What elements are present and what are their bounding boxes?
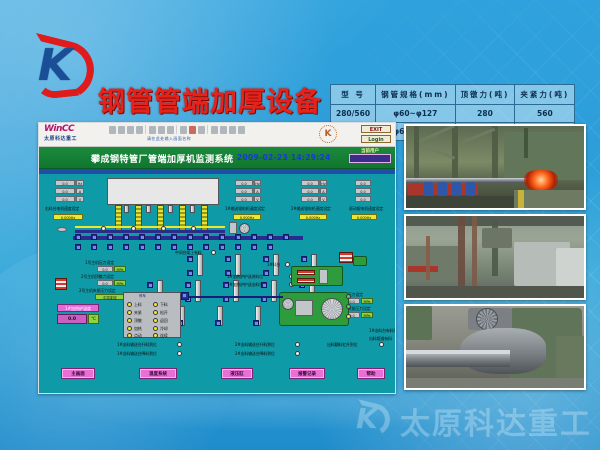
roller-drive bbox=[91, 244, 97, 250]
value-display: 0.0 bbox=[355, 180, 371, 186]
exit-button[interactable]: EXIT bbox=[361, 125, 391, 133]
photo-detail bbox=[406, 350, 510, 354]
operator-panel bbox=[123, 292, 181, 338]
photo-detail bbox=[514, 190, 584, 210]
spec-cell: 560 bbox=[515, 105, 575, 123]
value-unit: Hz bbox=[320, 180, 327, 186]
photo-detail bbox=[482, 228, 512, 248]
panel-lamp-label: 连续 bbox=[160, 333, 168, 339]
press-ram bbox=[124, 205, 129, 213]
spec-cell: 280 bbox=[455, 105, 515, 123]
photo-detail bbox=[524, 128, 528, 158]
status-lamp bbox=[177, 351, 182, 356]
panel-lamp-label: 下料 bbox=[160, 302, 168, 308]
roller-drive bbox=[123, 244, 129, 250]
hmi-system-title: 攀成钢特管厂管端加厚机监测系统 bbox=[91, 152, 234, 165]
spec-table-header-row: 型 号 钢管规格(mm) 顶镦力(吨) 夹紧力(吨) bbox=[331, 85, 575, 105]
clock-icon: K bbox=[319, 125, 337, 143]
value-display: 0.0 bbox=[55, 180, 75, 186]
photo-detail bbox=[524, 170, 558, 190]
spec-header-size: 钢管规格(mm) bbox=[376, 85, 456, 105]
panel-lamp bbox=[153, 333, 158, 338]
photo-detail bbox=[414, 126, 419, 184]
toolbar-layer-icon[interactable] bbox=[229, 126, 236, 134]
status-lamp bbox=[379, 342, 384, 347]
value-unit: A bbox=[254, 188, 261, 194]
toolbar-divider bbox=[145, 125, 147, 134]
photo-detail bbox=[406, 246, 458, 280]
status-label: 1#出料台有料位 bbox=[369, 328, 396, 334]
heating-furnace bbox=[291, 266, 343, 286]
roller-drive bbox=[219, 244, 225, 250]
furnace-door bbox=[319, 269, 328, 284]
heater-temp-value: 0.0 bbox=[57, 314, 87, 324]
status-lamp bbox=[177, 342, 182, 347]
panel-lamp bbox=[127, 333, 132, 338]
photo-detail bbox=[452, 126, 458, 182]
roller-drive bbox=[155, 244, 161, 250]
panel-lamp-label: 冷却 bbox=[160, 326, 168, 332]
setpoint-unit: MPa bbox=[361, 298, 373, 304]
heater-temp-unit: ℃ bbox=[88, 314, 99, 324]
table-row: 280/560 φ60~φ127 280 560 bbox=[331, 105, 575, 123]
photo-detail bbox=[556, 336, 586, 378]
hmi-mimic-canvas: 0.0 Hz 0.0 A 0.0 V 右料台电机速度设定 0.000Hz bbox=[39, 174, 395, 394]
value-display: 0.0 bbox=[301, 196, 319, 202]
roller-drive bbox=[75, 244, 81, 250]
status-label: 中间台架上有料 bbox=[175, 250, 202, 256]
value-unit: A bbox=[76, 188, 84, 194]
status-lamp bbox=[295, 342, 300, 347]
photo-detail bbox=[406, 286, 584, 300]
roller-valve bbox=[203, 234, 209, 240]
wincc-logo: WinCC bbox=[44, 124, 74, 134]
drive-motor-icon bbox=[239, 223, 250, 234]
value-unit: Hz bbox=[76, 180, 84, 186]
current-user-box: 当前用户 bbox=[349, 148, 391, 163]
button-help[interactable]: 帮助 bbox=[357, 368, 385, 379]
conveyor-lamp bbox=[131, 226, 136, 231]
output-display: 0.000Hz bbox=[299, 214, 327, 220]
toolbar-caption: 请在此处输入画面名称 bbox=[147, 136, 191, 142]
roller-valve bbox=[123, 234, 129, 240]
group-label: 右料台电机速度设定 bbox=[45, 206, 79, 212]
toolbar-cut-icon[interactable] bbox=[149, 126, 156, 134]
photo-detail bbox=[466, 182, 475, 196]
status-label: 出料翻料杠升到位 bbox=[327, 342, 357, 348]
hydraulic-cylinder bbox=[235, 254, 241, 276]
photo-detail bbox=[556, 248, 586, 286]
photo-detail bbox=[438, 182, 447, 196]
group-label: 2#输送辊电机速度设定 bbox=[291, 206, 331, 212]
press-column bbox=[201, 205, 208, 233]
roller-drive bbox=[107, 244, 113, 250]
panel-lamp bbox=[127, 318, 132, 323]
hmi-title-bar: 攀成钢特管厂管端加厚机监测系统 2009-02-23 14:29:24 当前用户 bbox=[39, 147, 395, 169]
status-label: 2#出料输送台升料到位 bbox=[235, 342, 275, 348]
panel-lamp bbox=[153, 326, 158, 331]
press-column bbox=[135, 205, 142, 233]
output-display: 0.000Hz bbox=[233, 214, 261, 220]
hmi-window-chrome: WinCC 太原科达重工 请在此处输入画面名称 K EXIT Login bbox=[39, 123, 395, 147]
manifold-stack bbox=[55, 278, 67, 290]
machine-lamp bbox=[346, 294, 351, 299]
conveyor-rail bbox=[75, 230, 225, 233]
setpoint-unit: MPa bbox=[114, 280, 126, 286]
cylinder-valve bbox=[187, 256, 193, 262]
value-display: 0.0 bbox=[301, 180, 319, 186]
conveyor-belt bbox=[75, 226, 225, 228]
cylinder-valve bbox=[253, 320, 259, 326]
toolbar-zoom-icon[interactable] bbox=[198, 126, 205, 134]
machine-lamp bbox=[346, 304, 351, 309]
photo-detail bbox=[424, 182, 433, 196]
toolbar-grid-icon[interactable] bbox=[211, 126, 218, 134]
panel-lamp-label: 加热 bbox=[134, 326, 142, 332]
hydraulic-cylinder bbox=[271, 280, 277, 302]
photo-pipe-upset-closeup bbox=[404, 304, 586, 390]
roller-valve bbox=[91, 234, 97, 240]
toolbar-divider bbox=[207, 125, 209, 134]
roller-valve bbox=[107, 234, 113, 240]
setpoint-value: 中控制定 bbox=[95, 294, 125, 300]
hmi-toolbar[interactable] bbox=[109, 125, 245, 134]
photo-detail bbox=[426, 236, 430, 280]
roller-drive bbox=[139, 244, 145, 250]
photo-workshop bbox=[404, 214, 586, 300]
press-ram bbox=[168, 205, 173, 213]
cylinder-valve bbox=[301, 256, 307, 262]
status-lamp bbox=[285, 262, 290, 267]
photo-detail bbox=[406, 378, 584, 390]
panel-lamp bbox=[153, 318, 158, 323]
photo-detail bbox=[406, 306, 432, 340]
roller-drive bbox=[267, 244, 273, 250]
company-logo: K bbox=[28, 38, 100, 100]
cylinder-valve bbox=[187, 270, 193, 276]
roller-valve bbox=[155, 234, 161, 240]
press-column bbox=[115, 205, 122, 233]
value-unit: Hz bbox=[254, 180, 261, 186]
button-alarm-log[interactable]: 报警记录 bbox=[289, 368, 325, 379]
aux-unit bbox=[353, 256, 367, 266]
value-display: 0.0 bbox=[235, 180, 253, 186]
roller-valve bbox=[75, 234, 81, 240]
button-main-screen[interactable]: 主画面 bbox=[61, 368, 95, 379]
press-ram bbox=[190, 205, 195, 213]
panel-lamp bbox=[127, 326, 132, 331]
status-label: 2#出料输送台降料到位 bbox=[235, 351, 275, 357]
photo-detail bbox=[518, 190, 524, 210]
wincc-sub-logo: 太原科达重工 bbox=[44, 135, 77, 142]
photo-detail bbox=[408, 266, 438, 272]
panel-lamp-label: 返回 bbox=[160, 318, 168, 324]
panel-lamp-label: 点动 bbox=[134, 333, 142, 339]
toolbar-preview-icon[interactable] bbox=[136, 126, 143, 134]
conveyor-lamp bbox=[161, 226, 166, 231]
toolbar-paste-icon[interactable] bbox=[167, 126, 174, 134]
panel-lamp-label: 松开 bbox=[160, 310, 168, 316]
cylinder-valve bbox=[225, 256, 231, 262]
toolbar-align-icon[interactable] bbox=[220, 126, 227, 134]
photo-rolling-line bbox=[404, 124, 586, 210]
status-lamp bbox=[295, 351, 300, 356]
spec-cell: φ60~φ127 bbox=[376, 105, 456, 123]
status-label: 1#出料输送台降料到位 bbox=[117, 351, 157, 357]
output-display: 0.000Hz bbox=[351, 214, 377, 220]
button-temp-system[interactable]: 温度系统 bbox=[139, 368, 177, 379]
status-label: 1#出料输送台升料到位 bbox=[117, 342, 157, 348]
status-label: 1#加热炉护送出料位 bbox=[227, 282, 263, 288]
button-hydraulic[interactable]: 液压缸 bbox=[221, 368, 253, 379]
hmi-datetime: 2009-02-23 14:29:24 bbox=[237, 153, 331, 162]
roller-valve bbox=[251, 234, 257, 240]
roller-valve bbox=[267, 234, 273, 240]
value-unit: A bbox=[320, 188, 327, 194]
setpoint-value: 0.0 bbox=[97, 266, 113, 272]
toolbar-undo-icon[interactable] bbox=[180, 126, 187, 134]
roller-valve bbox=[219, 234, 225, 240]
panel-lamp-label: 顶镦 bbox=[134, 318, 142, 324]
toolbar-save-icon[interactable] bbox=[118, 126, 125, 134]
login-button[interactable]: Login bbox=[361, 135, 391, 143]
heater-temp-label: 1#加热炉温度 bbox=[57, 304, 99, 312]
spec-header-model: 型 号 bbox=[331, 85, 376, 105]
cylinder-valve bbox=[263, 270, 269, 276]
output-display: 0.000Hz bbox=[53, 214, 83, 220]
value-display: 0.0 bbox=[301, 188, 319, 194]
conveyor-lamp bbox=[191, 226, 196, 231]
value-display: 0.0 bbox=[235, 188, 253, 194]
manifold-stack bbox=[339, 252, 353, 263]
hydraulic-cylinder bbox=[195, 280, 201, 302]
cylinder-valve bbox=[147, 282, 153, 288]
current-user-field[interactable] bbox=[349, 154, 391, 163]
panel-lamp-label: 夹紧 bbox=[134, 310, 142, 316]
spec-header-upset: 顶镦力(吨) bbox=[455, 85, 515, 105]
photo-detail bbox=[476, 308, 498, 330]
page-title: 钢管管端加厚设备 bbox=[98, 80, 322, 119]
machine-lamp bbox=[346, 314, 351, 319]
status-lamp bbox=[211, 250, 216, 255]
hmi-screenshot: WinCC 太原科达重工 请在此处输入画面名称 K EXIT Login bbox=[38, 122, 396, 394]
cylinder-valve bbox=[185, 282, 191, 288]
group-label: 1#输送辊电机速度设定 bbox=[225, 206, 265, 212]
toolbar-record-icon[interactable] bbox=[189, 126, 196, 134]
photo-detail bbox=[452, 182, 461, 196]
value-display: 0.0 bbox=[55, 196, 75, 202]
main-valve bbox=[181, 292, 189, 300]
slide-header: K 钢管管端加厚设备 型 号 钢管规格(mm) 顶镦力(吨) 夹紧力(吨) 28… bbox=[0, 34, 600, 100]
furnace-coil bbox=[297, 278, 315, 283]
drive-unit bbox=[229, 222, 237, 234]
conveyor-lamp bbox=[101, 226, 106, 231]
hydraulic-cylinder bbox=[197, 254, 203, 276]
panel-lamp bbox=[127, 310, 132, 315]
setpoint-unit: MPa bbox=[114, 266, 126, 272]
machine-bed bbox=[295, 300, 313, 316]
hydraulic-line bbox=[187, 296, 283, 298]
roller-valve bbox=[171, 234, 177, 240]
status-label: 1#料台 bbox=[267, 262, 280, 268]
setpoint-value: 0.0 bbox=[97, 280, 113, 286]
toolbar-print-icon[interactable] bbox=[127, 126, 134, 134]
gearbox-icon bbox=[282, 298, 294, 310]
setpoint-unit: MPa bbox=[361, 312, 373, 318]
panel-lamp bbox=[153, 310, 158, 315]
logo-letter: K bbox=[38, 44, 68, 88]
toolbar-divider bbox=[176, 125, 178, 134]
panel-lamp bbox=[127, 302, 132, 307]
value-display: 0.0 bbox=[355, 196, 371, 202]
spec-header-clamp: 夹紧力(吨) bbox=[515, 85, 575, 105]
panel-lamp bbox=[153, 302, 158, 307]
spec-cell: 280/560 bbox=[331, 105, 376, 123]
toolbar-copy-icon[interactable] bbox=[158, 126, 165, 134]
roller-drive bbox=[251, 244, 257, 250]
value-unit: V bbox=[320, 196, 327, 202]
photo-detail bbox=[492, 126, 498, 178]
operator-panel-title: 停车 bbox=[139, 294, 146, 299]
press-frame bbox=[107, 178, 219, 205]
panel-lamp-label: 上料 bbox=[134, 302, 142, 308]
value-display: 0.0 bbox=[235, 196, 253, 202]
toolbar-help-icon[interactable] bbox=[238, 126, 245, 134]
roller-valve bbox=[283, 234, 289, 240]
value-unit: V bbox=[254, 196, 261, 202]
roller-valve bbox=[235, 234, 241, 240]
roller-valve bbox=[187, 234, 193, 240]
value-display: 0.0 bbox=[55, 188, 75, 194]
roller-drive bbox=[235, 244, 241, 250]
value-unit: V bbox=[76, 196, 84, 202]
press-column bbox=[179, 205, 186, 233]
toolbar-open-icon[interactable] bbox=[109, 126, 116, 134]
furnace-coil bbox=[297, 270, 315, 275]
status-label: 1#加热炉护送进料位 bbox=[227, 274, 263, 280]
value-display: 0.0 bbox=[355, 188, 371, 194]
flywheel-icon bbox=[321, 298, 343, 320]
group-label: 驱动辊电机速度设定 bbox=[349, 206, 383, 212]
feed-roller bbox=[57, 227, 67, 232]
roller-drive bbox=[203, 244, 209, 250]
press-ram bbox=[146, 205, 151, 213]
cylinder-valve bbox=[215, 320, 221, 326]
roller-valve bbox=[139, 234, 145, 240]
